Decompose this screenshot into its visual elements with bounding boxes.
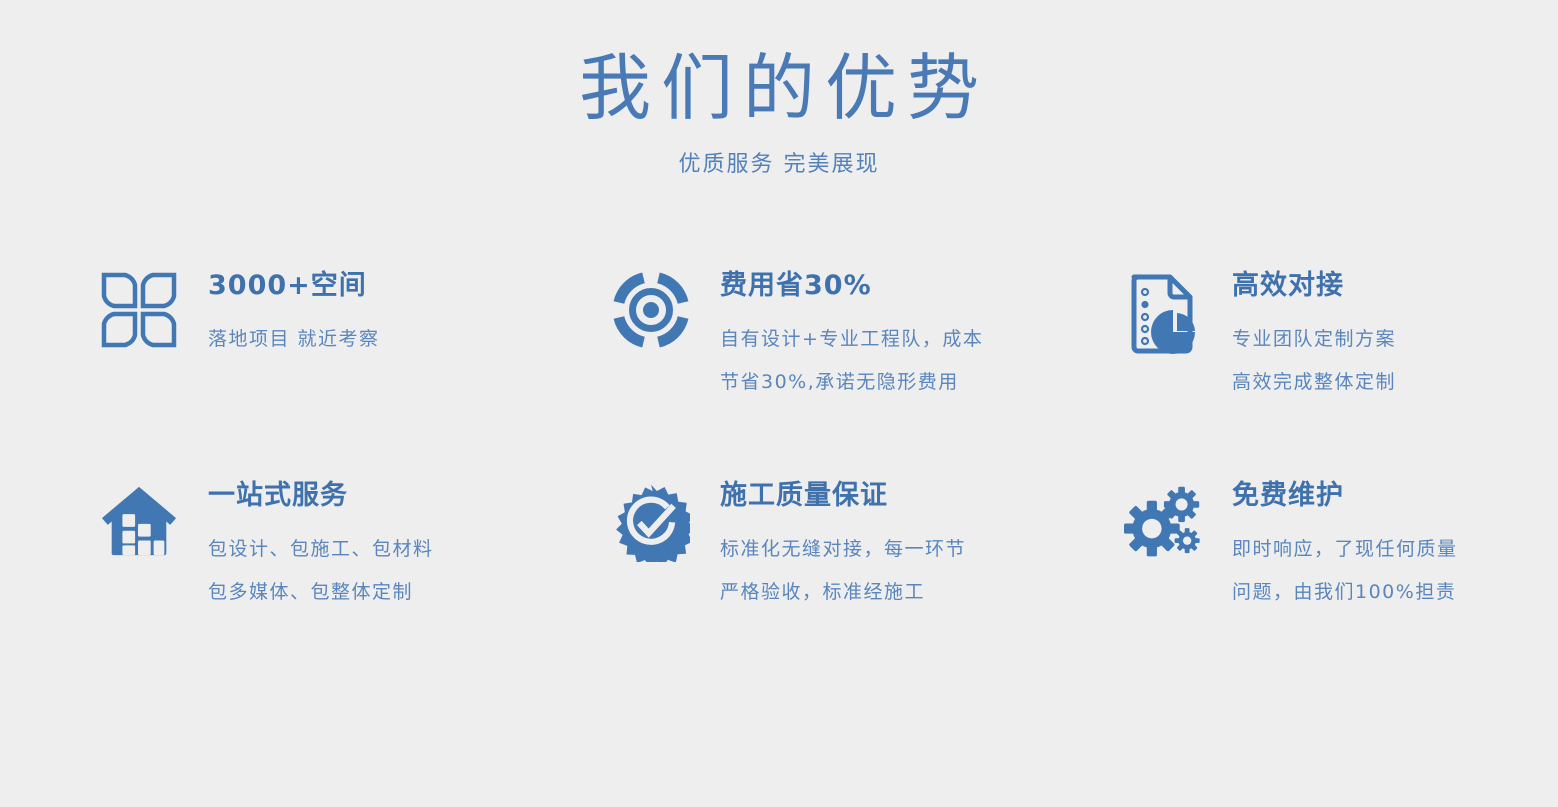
- feature-item-one-stop-service: 一站式服务 包设计、包施工、包材料 包多媒体、包整体定制: [100, 478, 612, 688]
- features-grid: 3000+空间 落地项目 就近考察: [0, 268, 1558, 688]
- feature-item-3000-spaces: 3000+空间 落地项目 就近考察: [100, 268, 612, 478]
- feature-item-free-maintenance: 免费维护 即时响应，了现任何质量 问题，由我们100%担责: [1124, 478, 1558, 688]
- page-subtitle: 优质服务 完美展现: [0, 146, 1558, 178]
- feature-description: 标准化无缝对接，每一环节 严格验收，标准经施工: [720, 528, 966, 614]
- page-title: 我们的优势: [0, 52, 1558, 124]
- feature-body: 3000+空间 落地项目 就近考察: [208, 268, 380, 361]
- badge-check-icon: [612, 478, 690, 564]
- feature-description: 落地项目 就近考察: [208, 318, 380, 361]
- feature-body: 一站式服务 包设计、包施工、包材料 包多媒体、包整体定制: [208, 478, 434, 614]
- feature-description: 包设计、包施工、包材料 包多媒体、包整体定制: [208, 528, 434, 614]
- feature-line: 高效完成整体定制: [1232, 361, 1396, 404]
- feature-description: 即时响应，了现任何质量 问题，由我们100%担责: [1232, 528, 1458, 614]
- gears-icon: [1124, 478, 1202, 564]
- feature-body: 施工质量保证 标准化无缝对接，每一环节 严格验收，标准经施工: [720, 478, 966, 614]
- feature-title: 免费维护: [1232, 480, 1458, 512]
- feature-line: 自有设计+专业工程队，成本: [720, 318, 983, 361]
- feature-title: 一站式服务: [208, 480, 434, 512]
- feature-line: 标准化无缝对接，每一环节: [720, 528, 966, 571]
- feature-line: 包多媒体、包整体定制: [208, 571, 434, 614]
- feature-line: 包设计、包施工、包材料: [208, 528, 434, 571]
- target-bullseye-icon: [612, 268, 690, 354]
- feature-line: 落地项目 就近考察: [208, 318, 380, 361]
- feature-line: 问题，由我们100%担责: [1232, 571, 1458, 614]
- document-pie-chart-icon: [1124, 268, 1202, 354]
- page-header: 我们的优势 优质服务 完美展现: [0, 0, 1558, 178]
- house-icon: [100, 478, 178, 564]
- feature-title: 高效对接: [1232, 270, 1396, 302]
- feature-item-quality-guarantee: 施工质量保证 标准化无缝对接，每一环节 严格验收，标准经施工: [612, 478, 1124, 688]
- feature-line: 节省30%,承诺无隐形费用: [720, 361, 983, 404]
- feature-line: 即时响应，了现任何质量: [1232, 528, 1458, 571]
- feature-title: 3000+空间: [208, 270, 380, 302]
- feature-line: 严格验收，标准经施工: [720, 571, 966, 614]
- feature-body: 免费维护 即时响应，了现任何质量 问题，由我们100%担责: [1232, 478, 1458, 614]
- feature-body: 高效对接 专业团队定制方案 高效完成整体定制: [1232, 268, 1396, 404]
- four-petals-icon: [100, 268, 178, 354]
- feature-line: 专业团队定制方案: [1232, 318, 1396, 361]
- feature-item-cost-saving: 费用省30% 自有设计+专业工程队，成本 节省30%,承诺无隐形费用: [612, 268, 1124, 478]
- feature-item-efficient-docking: 高效对接 专业团队定制方案 高效完成整体定制: [1124, 268, 1558, 478]
- feature-description: 自有设计+专业工程队，成本 节省30%,承诺无隐形费用: [720, 318, 983, 404]
- feature-body: 费用省30% 自有设计+专业工程队，成本 节省30%,承诺无隐形费用: [720, 268, 983, 404]
- feature-title: 费用省30%: [720, 270, 983, 302]
- feature-description: 专业团队定制方案 高效完成整体定制: [1232, 318, 1396, 404]
- feature-title: 施工质量保证: [720, 480, 966, 512]
